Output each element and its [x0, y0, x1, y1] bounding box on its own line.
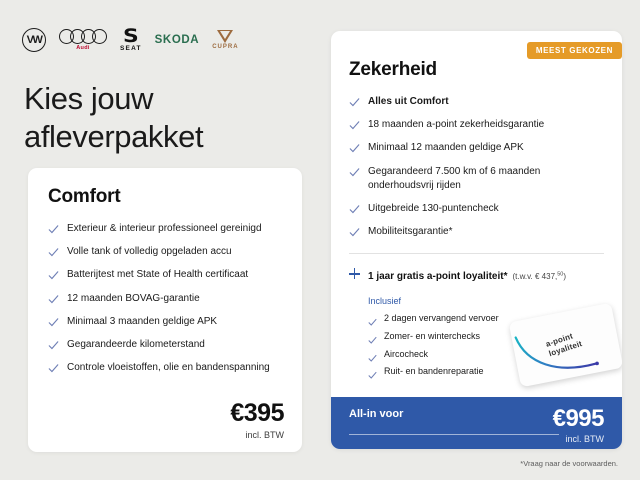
zekerheid-card-title: Zekerheid [349, 59, 604, 81]
zekerheid-feature-list: Alles uit Comfort 18 maanden a-point zek… [349, 95, 604, 239]
check-icon [368, 332, 377, 341]
comfort-feature-text: 12 maanden BOVAG-garantie [67, 292, 200, 306]
loyalty-value-suffix: ) [563, 272, 566, 281]
check-icon [349, 167, 360, 178]
page-title-line1: Kies jouw [24, 81, 153, 116]
list-item: Gegarandeerd 7.500 km of 6 maanden onder… [349, 165, 604, 193]
comfort-feature-list: Exterieur & interieur professioneel gere… [48, 222, 282, 375]
list-item: Volle tank of volledig opgeladen accu [48, 245, 282, 259]
list-item: Mobiliteitsgarantie* [349, 225, 604, 239]
comfort-price-note: incl. BTW [230, 430, 284, 440]
vw-monogram: VW [27, 35, 42, 46]
skoda-logo: SKODA [155, 34, 200, 46]
seat-logo: S SEAT [120, 28, 142, 52]
comfort-feature-text: Volle tank of volledig opgeladen accu [67, 245, 232, 259]
list-item: Exterieur & interieur professioneel gere… [48, 222, 282, 236]
zekerheid-price-note: incl. BTW [553, 434, 604, 444]
check-icon [349, 120, 360, 131]
all-in-label: All-in voor [349, 408, 403, 420]
audi-rings-icon [59, 29, 107, 44]
comfort-feature-text: Gegarandeerde kilometerstand [67, 338, 205, 352]
comfort-price-block: €395 incl. BTW [230, 401, 284, 440]
zekerheid-price-amount: €995 [553, 408, 604, 431]
section-divider [349, 253, 604, 254]
plus-icon [349, 268, 360, 279]
footer-price-block: €995 incl. BTW [553, 408, 604, 444]
inclusief-item-text: Aircocheck [384, 349, 428, 361]
list-item: Minimaal 12 maanden geldige APK [349, 141, 604, 155]
inclusief-item-text: Zomer- en winterchecks [384, 331, 480, 343]
loyalty-value: (t.w.v. € 437,50) [512, 272, 566, 281]
check-icon [48, 340, 59, 351]
list-item: Alles uit Comfort [349, 95, 604, 109]
loyalty-label: 1 jaar gratis a-point loyaliteit* [368, 271, 507, 282]
terms-footnote: *Vraag naar de voorwaarden. [520, 459, 618, 468]
footer-price-row: All-in voor €995 incl. BTW [349, 397, 604, 444]
audi-wordmark: Audi [76, 45, 89, 51]
check-icon [349, 143, 360, 154]
list-item: Controle vloeistoffen, olie en bandenspa… [48, 361, 282, 375]
comfort-card-title: Comfort [48, 186, 282, 208]
package-card-zekerheid[interactable]: MEEST GEKOZEN Zekerheid Alles uit Comfor… [331, 31, 622, 449]
list-item: Gegarandeerde kilometerstand [48, 338, 282, 352]
inclusief-item-text: Ruit- en bandenreparatie [384, 366, 484, 378]
promo-banner: VW Audi S SEAT SKODA CUPRA Kies jouw afl… [0, 0, 640, 480]
audi-logo: Audi [59, 29, 107, 51]
inclusief-item-text: 2 dagen vervangend vervoer [384, 313, 499, 325]
zekerheid-feature-text: Alles uit Comfort [368, 95, 449, 109]
check-icon [48, 363, 59, 374]
cupra-logo: CUPRA [212, 30, 238, 50]
list-item: Minimaal 3 maanden geldige APK [48, 315, 282, 329]
seat-mark-icon: S [123, 28, 139, 44]
cupra-mark-icon [217, 30, 233, 43]
zekerheid-feature-text: Gegarandeerd 7.500 km of 6 maanden onder… [368, 165, 604, 193]
status-badge-most-chosen: MEEST GEKOZEN [527, 42, 622, 59]
zekerheid-feature-text: Uitgebreide 130-puntencheck [368, 202, 499, 216]
zekerheid-feature-text: Minimaal 12 maanden geldige APK [368, 141, 524, 155]
inclusief-title: Inclusief [368, 296, 604, 306]
comfort-feature-text: Controle vloeistoffen, olie en bandenspa… [67, 361, 270, 375]
check-icon [48, 294, 59, 305]
check-icon [368, 350, 377, 359]
list-item: 18 maanden a-point zekerheidsgarantie [349, 118, 604, 132]
vw-roundel-icon: VW [22, 28, 46, 52]
loyalty-value-prefix: (t.w.v. € 437, [512, 272, 557, 281]
list-item: Uitgebreide 130-puntencheck [349, 202, 604, 216]
package-card-comfort[interactable]: Comfort Exterieur & interieur profession… [28, 168, 302, 452]
zekerheid-card-body: MEEST GEKOZEN Zekerheid Alles uit Comfor… [331, 31, 622, 378]
check-icon [48, 270, 59, 281]
page-title-line2: afleverpakket [24, 119, 203, 154]
volkswagen-logo: VW [22, 28, 46, 52]
check-icon [349, 227, 360, 238]
loyalty-highlight-row: 1 jaar gratis a-point loyaliteit*(t.w.v.… [349, 266, 604, 284]
zekerheid-price-footer: All-in voor €995 incl. BTW [331, 397, 622, 449]
brand-logo-strip: VW Audi S SEAT SKODA CUPRA [22, 26, 239, 54]
cupra-wordmark: CUPRA [212, 44, 238, 50]
skoda-wordmark: SKODA [155, 34, 200, 46]
check-icon [48, 317, 59, 328]
list-item: Batterijtest met State of Health certifi… [48, 268, 282, 282]
zekerheid-feature-text: 18 maanden a-point zekerheidsgarantie [368, 118, 544, 132]
check-icon [349, 97, 360, 108]
comfort-feature-text: Minimaal 3 maanden geldige APK [67, 315, 217, 329]
zekerheid-feature-text: Mobiliteitsgarantie* [368, 225, 453, 239]
check-icon [368, 367, 377, 376]
page-title: Kies jouw afleverpakket [24, 80, 203, 156]
check-icon [349, 204, 360, 215]
comfort-price-amount: €395 [230, 401, 284, 426]
comfort-feature-text: Exterieur & interieur professioneel gere… [67, 222, 262, 236]
check-icon [48, 247, 59, 258]
comfort-feature-text: Batterijtest met State of Health certifi… [67, 268, 248, 282]
check-icon [48, 224, 59, 235]
check-icon [368, 314, 377, 323]
list-item: 12 maanden BOVAG-garantie [48, 292, 282, 306]
inclusief-section: Inclusief 2 dagen vervangend vervoer Zom… [368, 296, 604, 378]
footer-underline [349, 434, 559, 435]
